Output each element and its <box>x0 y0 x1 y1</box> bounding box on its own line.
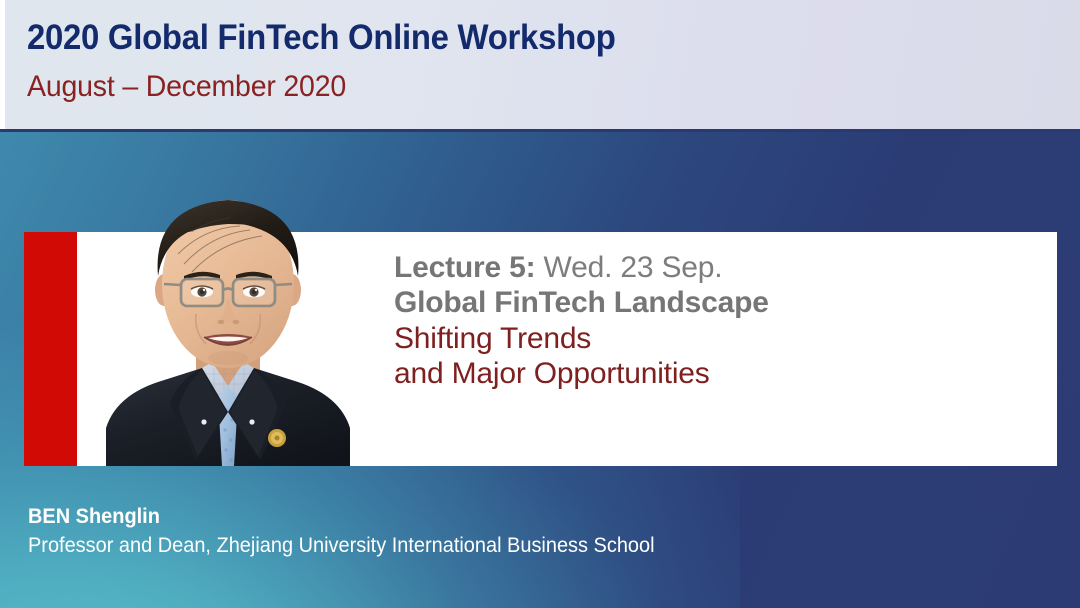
lecture-number-label: Lecture 5: <box>394 251 535 284</box>
lecture-line-date: Lecture 5: Wed. 23 Sep. <box>394 250 1034 285</box>
speaker-name: BEN Shenglin <box>28 504 655 530</box>
portrait-photo-lower <box>78 232 372 466</box>
red-accent-bar <box>24 232 77 466</box>
lecture-subtitle-line-2: and Major Opportunities <box>394 356 1034 391</box>
lecture-details: Lecture 5: Wed. 23 Sep. Global FinTech L… <box>394 250 1034 392</box>
workshop-title: 2020 Global FinTech Online Workshop <box>27 18 616 58</box>
presentation-slide: 2020 Global FinTech Online Workshop Augu… <box>0 0 1080 608</box>
speaker-info: BEN Shenglin Professor and Dean, Zhejian… <box>28 504 688 559</box>
header-left-edge-strip <box>0 0 5 129</box>
speaker-role: Professor and Dean, Zhejiang University … <box>28 532 655 559</box>
slide-header-band: 2020 Global FinTech Online Workshop Augu… <box>0 0 1080 132</box>
workshop-date-range: August – December 2020 <box>27 70 346 104</box>
lecture-date: Wed. 23 Sep. <box>544 251 723 284</box>
slide-body: Lecture 5: Wed. 23 Sep. Global FinTech L… <box>0 132 1080 608</box>
speaker-portrait-in-card <box>78 232 372 466</box>
lecture-card: Lecture 5: Wed. 23 Sep. Global FinTech L… <box>24 232 1057 466</box>
lecture-topic: Global FinTech Landscape <box>394 285 1034 320</box>
lecture-subtitle-line-1: Shifting Trends <box>394 321 1034 356</box>
